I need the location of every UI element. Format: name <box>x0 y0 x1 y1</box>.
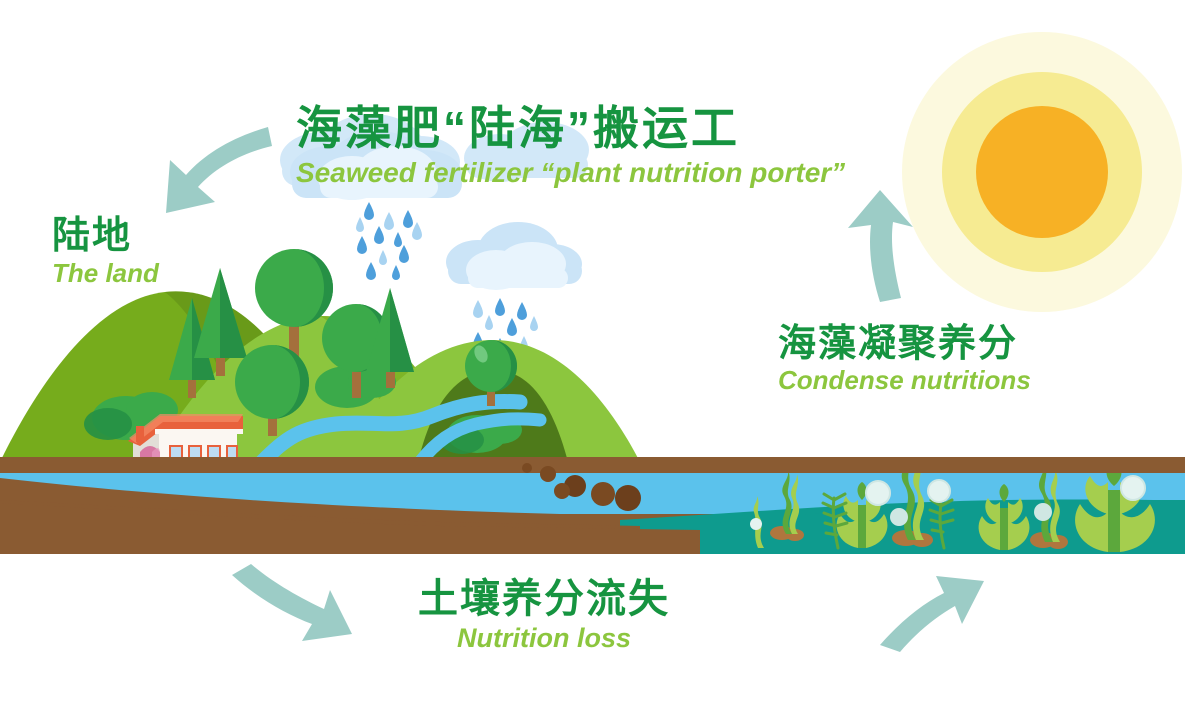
raindrops-left <box>356 202 422 280</box>
label-land-cn: 陆地 <box>52 216 159 256</box>
title-en: Seaweed fertilizer “plant nutrition port… <box>296 158 845 188</box>
label-land-en: The land <box>52 260 159 288</box>
title-cn: 海藻肥“陆海”搬运工 <box>296 104 845 153</box>
infographic-canvas: 海藻肥“陆海”搬运工 Seaweed fertilizer “plant nut… <box>0 0 1200 721</box>
curved-arrow-up-icon[interactable] <box>848 190 913 302</box>
curved-arrow-up-right-icon[interactable] <box>880 576 984 652</box>
label-loss-cn: 土壤养分流失 <box>418 578 670 620</box>
cloud-rain-right-icon <box>446 222 582 356</box>
sun-icon <box>902 32 1182 312</box>
label-condense-en: Condense nutritions <box>778 367 1031 395</box>
label-condense-cn: 海藻凝聚养分 <box>778 324 1031 364</box>
curved-arrow-down-left-icon[interactable] <box>166 127 272 213</box>
label-nutrition-loss: 土壤养分流失 Nutrition loss <box>418 578 670 653</box>
label-land: 陆地 The land <box>52 216 159 288</box>
label-loss-en: Nutrition loss <box>418 624 670 653</box>
label-condense-nutritions: 海藻凝聚养分 Condense nutritions <box>778 324 1031 395</box>
curved-arrow-down-right-icon[interactable] <box>232 564 352 641</box>
page-title: 海藻肥“陆海”搬运工 Seaweed fertilizer “plant nut… <box>296 104 845 187</box>
